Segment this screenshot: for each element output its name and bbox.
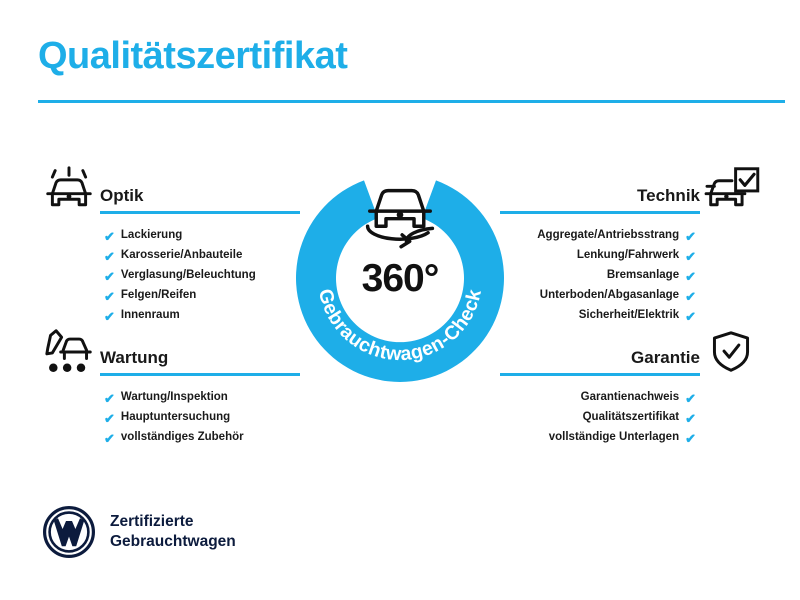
header-divider bbox=[38, 100, 785, 103]
section-title-technik: Technik bbox=[500, 186, 700, 211]
section-underline-garantie bbox=[500, 373, 700, 376]
list-item: ✔ vollständige Unterlagen bbox=[500, 428, 762, 448]
check-icon: ✔ bbox=[685, 230, 696, 243]
check-icon: ✔ bbox=[685, 432, 696, 445]
check-icon: ✔ bbox=[685, 392, 696, 405]
check-icon: ✔ bbox=[104, 290, 115, 303]
checklist-optik: ✔ Lackierung ✔ Karosserie/Anbauteile ✔ V… bbox=[38, 226, 300, 326]
section-underline-optik bbox=[100, 211, 300, 214]
check-icon: ✔ bbox=[104, 270, 115, 283]
check-icon: ✔ bbox=[685, 412, 696, 425]
check-icon: ✔ bbox=[685, 270, 696, 283]
list-item: ✔ vollständiges Zubehör bbox=[38, 428, 300, 448]
section-optik: Optik ✔ Lackierung ✔ Karosserie/Anbautei… bbox=[38, 160, 300, 326]
check-icon: ✔ bbox=[685, 250, 696, 263]
list-item: ✔ Lenkung/Fahrwerk bbox=[500, 246, 762, 266]
check-icon: ✔ bbox=[104, 230, 115, 243]
list-item: ✔ Qualitätszertifikat bbox=[500, 408, 762, 428]
section-title-garantie: Garantie bbox=[500, 348, 700, 373]
badge-360-gebrauchtwagen-check: Gebrauchtwagen-Check 360° bbox=[288, 150, 512, 382]
section-underline-technik bbox=[500, 211, 700, 214]
checklist-technik: ✔ Aggregate/Antriebsstrang ✔ Lenkung/Fah… bbox=[500, 226, 762, 326]
list-item: ✔ Bremsanlage bbox=[500, 266, 762, 286]
section-underline-wartung bbox=[100, 373, 300, 376]
pen-car-service-icon bbox=[38, 326, 100, 378]
check-icon: ✔ bbox=[685, 290, 696, 303]
check-icon: ✔ bbox=[685, 310, 696, 323]
shield-check-icon bbox=[700, 326, 762, 378]
section-title-wartung: Wartung bbox=[100, 348, 300, 373]
vw-footer-text: Zertifizierte Gebrauchtwagen bbox=[110, 512, 236, 552]
section-garantie: Garantie ✔ Garantienachweis ✔ Qualitätsz… bbox=[500, 322, 762, 448]
list-item: ✔ Karosserie/Anbauteile bbox=[38, 246, 300, 266]
volkswagen-logo bbox=[42, 505, 96, 559]
car-checkbox-icon bbox=[700, 164, 762, 216]
checklist-garantie: ✔ Garantienachweis ✔ Qualitätszertifikat… bbox=[500, 388, 762, 448]
checklist-wartung: ✔ Wartung/Inspektion ✔ Hauptuntersuchung… bbox=[38, 388, 300, 448]
section-wartung: Wartung ✔ Wartung/Inspektion ✔ Hauptunte… bbox=[38, 322, 300, 448]
vw-footer-line1: Zertifizierte bbox=[110, 512, 236, 532]
list-item: ✔ Garantienachweis bbox=[500, 388, 762, 408]
page-title: Qualitätszertifikat bbox=[38, 36, 347, 78]
list-item: ✔ Felgen/Reifen bbox=[38, 286, 300, 306]
list-item: ✔ Unterboden/Abgasanlage bbox=[500, 286, 762, 306]
check-icon: ✔ bbox=[104, 250, 115, 263]
vw-footer-line2: Gebrauchtwagen bbox=[110, 532, 236, 552]
check-icon: ✔ bbox=[104, 310, 115, 323]
check-icon: ✔ bbox=[104, 392, 115, 405]
list-item: ✔ Verglasung/Beleuchtung bbox=[38, 266, 300, 286]
vw-footer: Zertifizierte Gebrauchtwagen bbox=[42, 505, 236, 559]
check-icon: ✔ bbox=[104, 432, 115, 445]
list-item: ✔ Lackierung bbox=[38, 226, 300, 246]
car-front-lights-icon bbox=[38, 164, 100, 216]
section-technik: Technik ✔ Aggregate/Antriebsstrang ✔ Len… bbox=[500, 160, 762, 326]
list-item: ✔ Hauptuntersuchung bbox=[38, 408, 300, 428]
check-icon: ✔ bbox=[104, 412, 115, 425]
list-item: ✔ Wartung/Inspektion bbox=[38, 388, 300, 408]
section-title-optik: Optik bbox=[100, 186, 300, 211]
list-item: ✔ Aggregate/Antriebsstrang bbox=[500, 226, 762, 246]
